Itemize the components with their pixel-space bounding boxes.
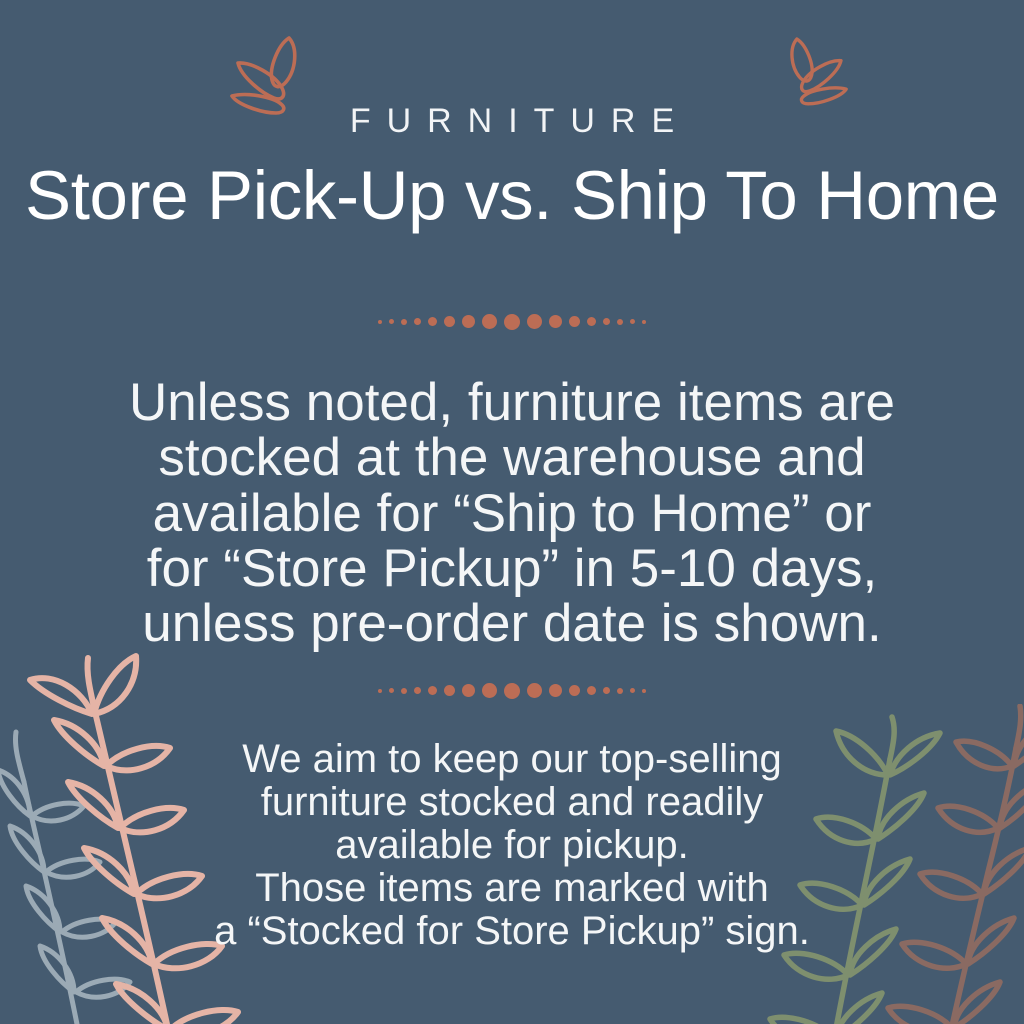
eyebrow-label: FURNITURE (334, 104, 690, 138)
divider-dot (462, 315, 475, 328)
main-paragraph-line: for “Store Pickup” in 5-10 days, (129, 541, 895, 596)
divider-dot (428, 686, 437, 695)
divider-dot (527, 314, 542, 329)
sub-paragraph: We aim to keep our top-selling furniture… (214, 738, 810, 953)
divider-dot (569, 685, 580, 696)
divider-dot (587, 686, 596, 695)
divider-dot (444, 685, 455, 696)
divider-dot (549, 315, 562, 328)
divider-dot (444, 316, 455, 327)
divider-dot (401, 319, 407, 325)
divider-dot (389, 688, 394, 693)
divider-dot (569, 316, 580, 327)
divider-dot (630, 688, 635, 693)
sub-paragraph-line: Those items are marked with (214, 867, 810, 910)
divider-dot (462, 684, 475, 697)
main-paragraph: Unless noted, furniture items are stocke… (129, 375, 895, 652)
divider-dot (642, 689, 646, 693)
divider-dot (587, 317, 596, 326)
divider-dot (414, 318, 421, 325)
divider-dot (401, 688, 407, 694)
main-paragraph-line: unless pre-order date is shown. (129, 596, 895, 651)
divider-dot (378, 320, 382, 324)
divider-dot (414, 687, 421, 694)
divider-dot (428, 317, 437, 326)
divider-dot (504, 683, 520, 699)
divider-dot (603, 318, 610, 325)
divider-dot (504, 314, 520, 330)
sub-paragraph-line: available for pickup. (214, 824, 810, 867)
main-paragraph-line: Unless noted, furniture items are (129, 375, 895, 430)
divider-dot (603, 687, 610, 694)
dot-divider-bottom (378, 682, 646, 700)
divider-dot (617, 688, 623, 694)
main-paragraph-line: stocked at the warehouse and (129, 430, 895, 485)
divider-dot (642, 320, 646, 324)
divider-dot (630, 319, 635, 324)
page-title: Store Pick-Up vs. Ship To Home (25, 160, 999, 232)
content-stack: FURNITURE Store Pick-Up vs. Ship To Home… (0, 0, 1024, 1024)
divider-dot (389, 319, 394, 324)
sub-paragraph-line: a “Stocked for Store Pickup” sign. (214, 910, 810, 953)
divider-dot (378, 689, 382, 693)
divider-dot (482, 683, 497, 698)
promo-graphic: FURNITURE Store Pick-Up vs. Ship To Home… (0, 0, 1024, 1024)
main-paragraph-line: available for “Ship to Home” or (129, 486, 895, 541)
sub-paragraph-line: We aim to keep our top-selling (214, 738, 810, 781)
dot-divider-top (378, 313, 646, 331)
divider-dot (482, 314, 497, 329)
divider-dot (549, 684, 562, 697)
divider-dot (527, 683, 542, 698)
divider-dot (617, 319, 623, 325)
sub-paragraph-line: furniture stocked and readily (214, 781, 810, 824)
